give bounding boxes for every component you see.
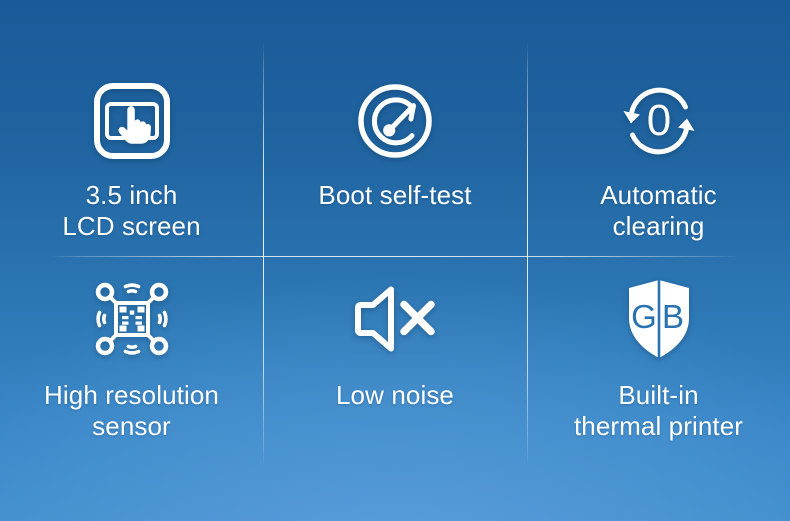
feature-cell-high-resolution-sensor: High resolution sensor: [0, 256, 263, 521]
feature-banner: 3.5 inch LCD screen Boot self-test: [0, 0, 790, 521]
feature-label: Boot self-test: [318, 180, 471, 211]
feature-label: High resolution sensor: [44, 380, 219, 441]
speaker-mute-icon: [352, 276, 438, 362]
feature-cell-low-noise: Low noise: [263, 256, 527, 521]
feature-cell-boot-self-test: Boot self-test: [263, 0, 527, 256]
touch-screen-icon: [89, 78, 175, 164]
refresh-zero-icon-text: 0: [646, 96, 670, 145]
feature-cell-lcd-screen: 3.5 inch LCD screen: [0, 0, 263, 256]
feature-label: Built-in thermal printer: [574, 380, 743, 441]
feature-cell-built-in-thermal-printer: G B Built-in thermal printer: [527, 256, 790, 521]
feature-cell-automatic-clearing: 0 Automatic clearing: [527, 0, 790, 256]
feature-label: Automatic clearing: [600, 180, 717, 241]
refresh-zero-icon: 0: [616, 78, 702, 164]
shield-letter-g: G: [631, 298, 657, 335]
sensor-chip-icon: [89, 276, 175, 362]
gauge-self-test-icon: [352, 78, 438, 164]
feature-grid: 3.5 inch LCD screen Boot self-test: [0, 0, 790, 521]
shield-letter-b: B: [661, 298, 683, 335]
shield-gb-icon: G B: [616, 276, 702, 362]
feature-label: Low noise: [336, 380, 454, 411]
feature-label: 3.5 inch LCD screen: [62, 180, 200, 241]
